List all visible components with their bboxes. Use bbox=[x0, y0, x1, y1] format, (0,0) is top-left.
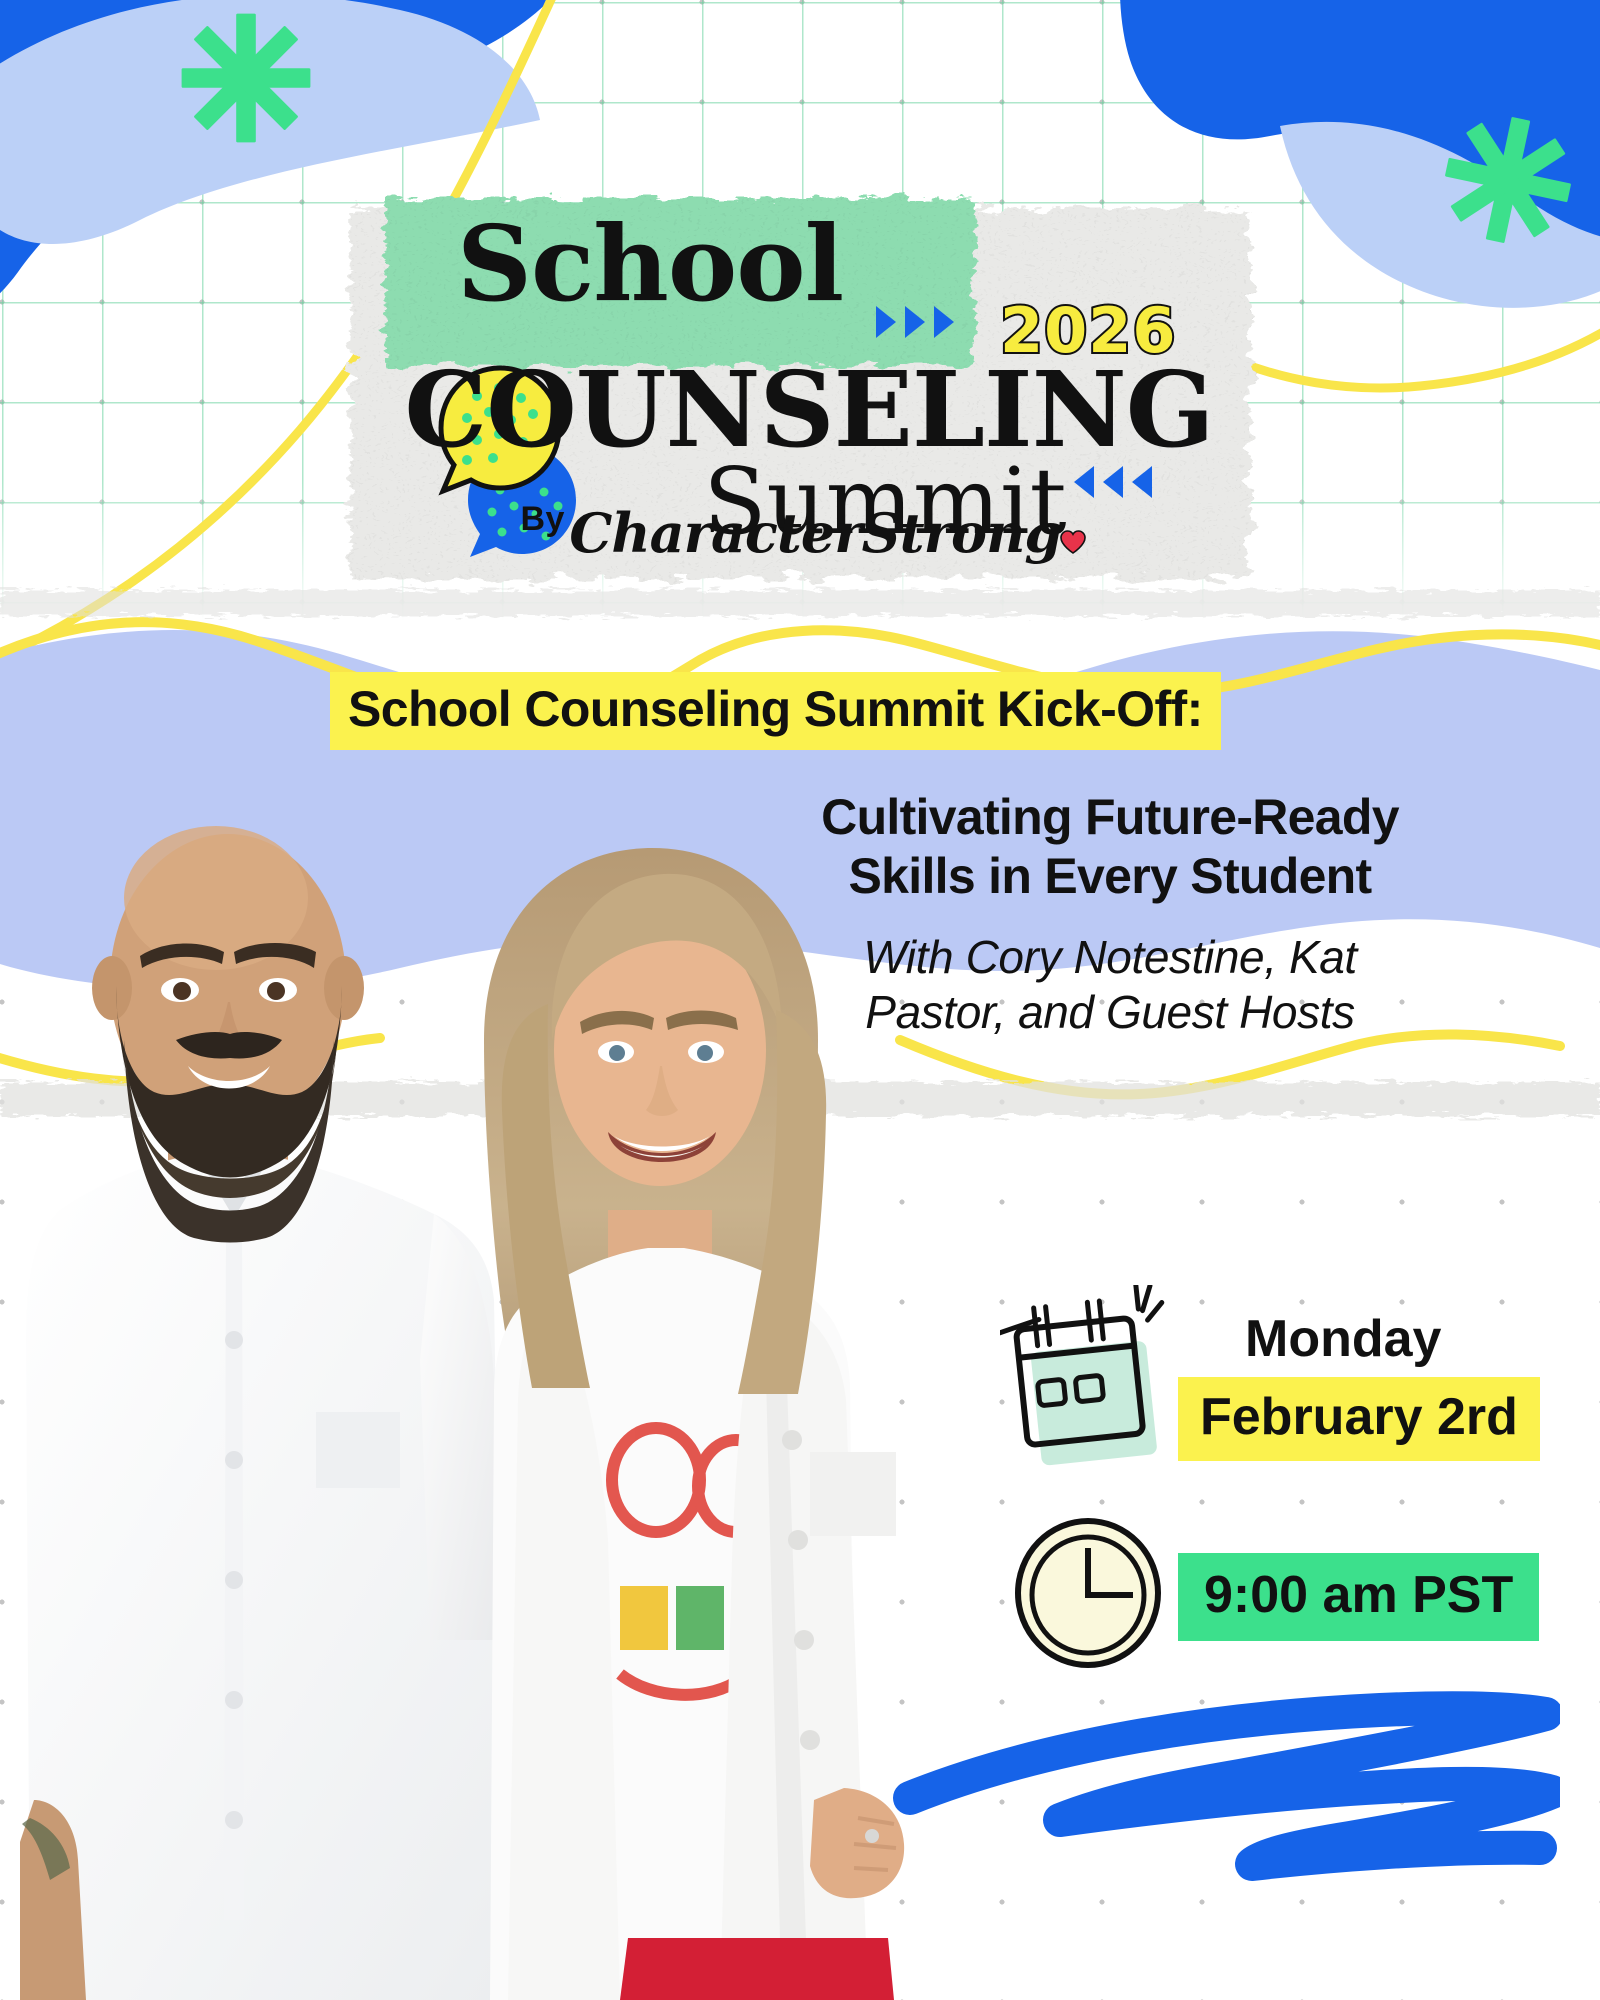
summit-logo-lockup: School COUNSELING Summit 2026 bbox=[0, 96, 1600, 516]
torn-strip-top bbox=[0, 590, 1600, 616]
presenters-credit-line-2: Pastor, and Guest Hosts bbox=[790, 985, 1430, 1040]
chevron-left-icon-group bbox=[1074, 466, 1152, 498]
kickoff-headline: School Counseling Summit Kick-Off: bbox=[330, 672, 1221, 750]
session-subtitle-line-1: Cultivating Future-Ready bbox=[790, 788, 1430, 847]
logo-year: 2026 bbox=[1000, 294, 1177, 367]
heart-icon bbox=[1060, 530, 1086, 554]
byline-prefix: By bbox=[520, 500, 564, 538]
event-date: February 2rd bbox=[1178, 1377, 1540, 1461]
chevron-right-icon-group bbox=[876, 306, 954, 338]
kickoff-headline-wrap: School Counseling Summit Kick-Off: bbox=[330, 672, 1221, 750]
logo-word-counseling: COUNSELING bbox=[0, 358, 1600, 462]
byline-brand: CharacterStrong bbox=[569, 501, 1061, 565]
presenters-credit: With Cory Notestine, Kat Pastor, and Gue… bbox=[790, 930, 1430, 1040]
logo-word-school: School bbox=[0, 212, 1600, 316]
session-subtitle-line-2: Skills in Every Student bbox=[790, 847, 1430, 906]
presenters-credit-line-1: With Cory Notestine, Kat bbox=[790, 930, 1430, 985]
calendar-icon bbox=[1000, 1285, 1170, 1475]
session-subtitle: Cultivating Future-Ready Skills in Every… bbox=[790, 788, 1430, 906]
clock-icon bbox=[1012, 1517, 1164, 1669]
scribble-underline-icon bbox=[880, 1680, 1560, 1890]
byline: By CharacterStrong bbox=[0, 500, 1600, 565]
presenters-photo bbox=[20, 740, 920, 2000]
event-time: 9:00 am PST bbox=[1178, 1553, 1539, 1641]
event-day: Monday bbox=[1245, 1313, 1441, 1365]
